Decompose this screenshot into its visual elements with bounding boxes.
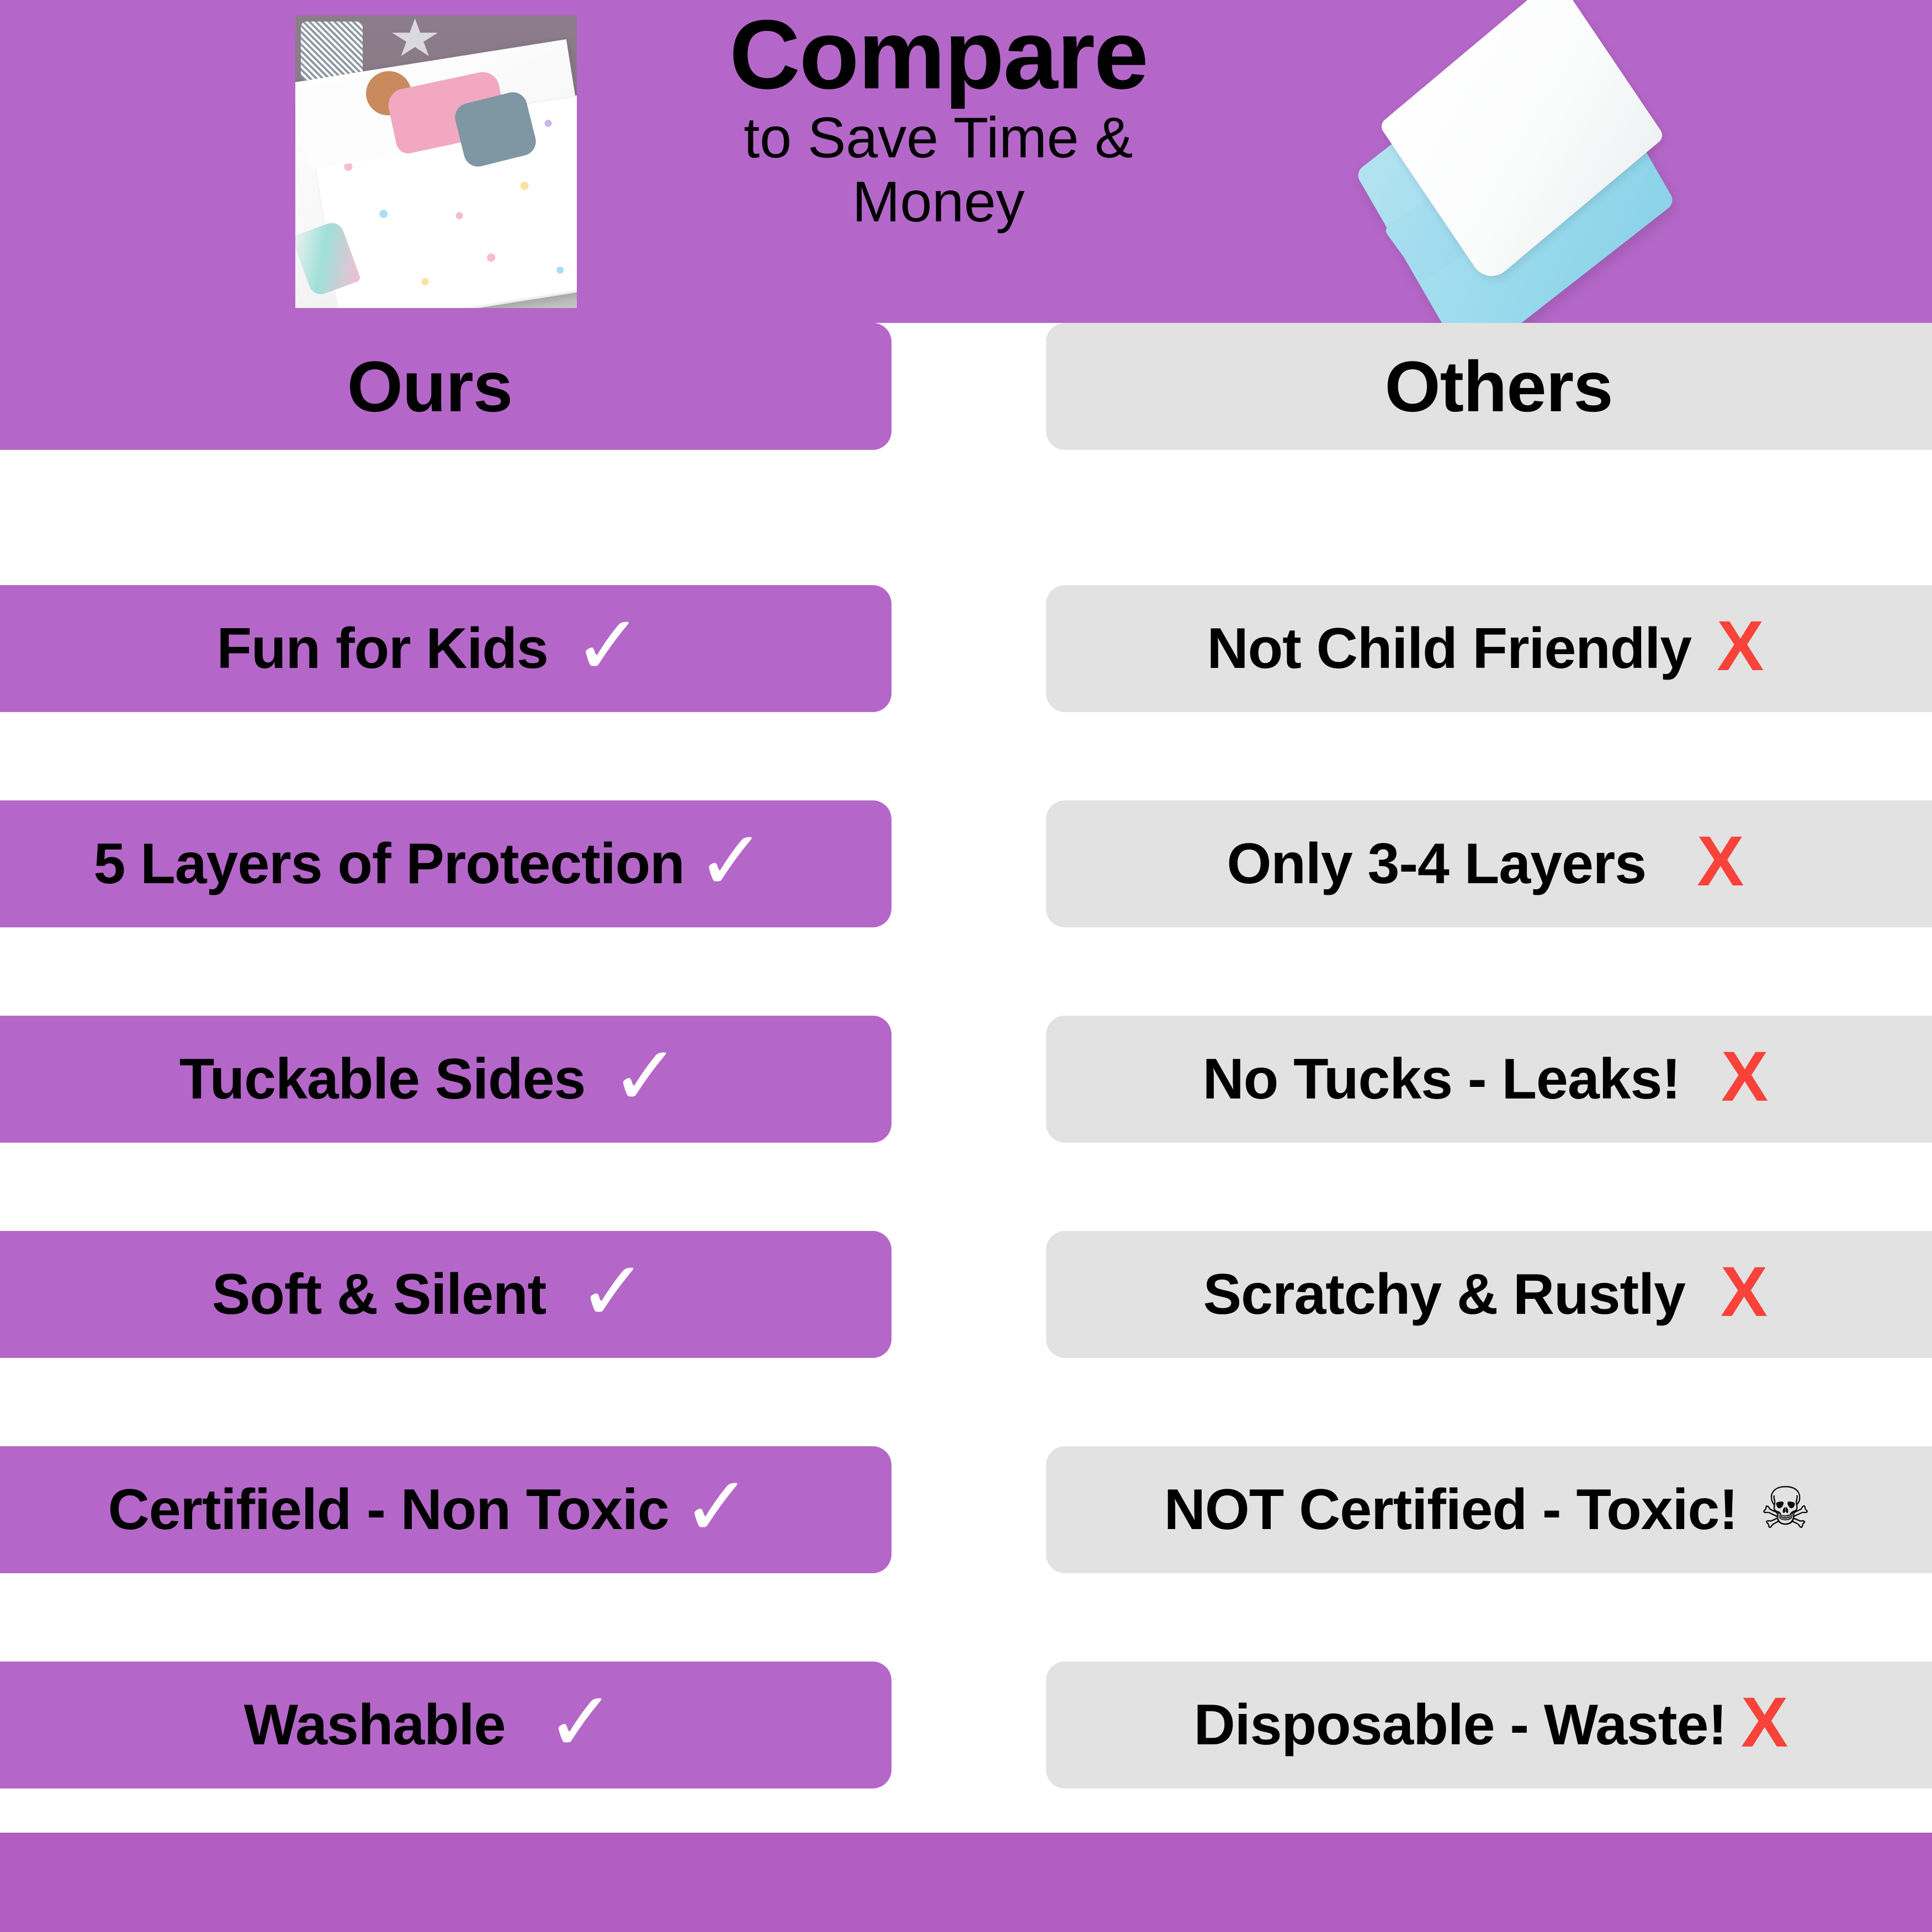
ours-feature-label: Fun for Kids [216,616,548,682]
page-title: Compare [624,6,1253,104]
lifestyle-photo-child-on-pad [295,15,577,308]
others-feature-label: Not Child Friendly [1207,616,1692,682]
others-cell: NOT Certified - Toxic! ☠ [1046,1446,1932,1573]
header-banner: Compare to Save Time & Money [0,0,1932,323]
cross-icon: X [1741,1687,1788,1758]
table-row: Washable ✓ Disposable - Waste! X [0,1662,1932,1788]
ours-feature-label: 5 Layers of Protection [94,831,684,897]
table-header-row: Ours Others [0,323,1932,450]
page-subtitle-line-2: Money [624,172,1253,232]
column-header-others-label: Others [1384,345,1612,428]
others-cell: Disposable - Waste! X [1046,1662,1932,1788]
column-header-ours-label: Ours [347,345,512,428]
check-icon: ✓ [697,819,766,902]
skull-and-crossbones-icon: ☠ [1760,1480,1811,1537]
product-photo-folded-pad [1355,6,1714,315]
table-row: Certifield - Non Toxic ✓ NOT Certified -… [0,1446,1932,1573]
others-cell: Only 3-4 Layers X [1046,800,1932,927]
ours-cell: Certifield - Non Toxic ✓ [0,1446,891,1573]
check-icon: ✓ [682,1465,752,1548]
table-row: Fun for Kids ✓ Not Child Friendly X [0,585,1932,712]
others-cell: No Tucks - Leaks! X [1046,1016,1932,1143]
check-icon: ✓ [546,1680,615,1763]
comparison-table: Ours Others Fun for Kids ✓ Not Child Fri… [0,323,1932,1833]
others-feature-label: No Tucks - Leaks! [1203,1047,1680,1112]
others-cell: Not Child Friendly X [1046,585,1932,712]
photo-cushion [301,22,363,80]
page-subtitle-line-1: to Save Time & [624,108,1253,168]
others-cell: Scratchy & Rustly X [1046,1231,1932,1358]
header-title-block: Compare to Save Time & Money [624,6,1253,232]
check-icon: ✓ [574,604,643,687]
table-row: Tuckable Sides ✓ No Tucks - Leaks! X [0,1016,1932,1143]
cross-icon: X [1697,826,1744,897]
ours-cell: 5 Layers of Protection ✓ [0,800,891,927]
check-icon: ✓ [578,1250,647,1333]
others-feature-label: Scratchy & Rustly [1203,1262,1685,1328]
check-icon: ✓ [611,1034,680,1117]
cross-icon: X [1721,1042,1768,1112]
cross-icon: X [1721,1257,1768,1328]
others-feature-label: NOT Certified - Toxic! [1164,1477,1738,1543]
column-header-ours: Ours [0,323,891,450]
ours-cell: Tuckable Sides ✓ [0,1016,891,1143]
others-feature-label: Only 3-4 Layers [1227,831,1647,897]
ours-cell: Soft & Silent ✓ [0,1231,891,1358]
column-header-others: Others [1046,323,1932,450]
cross-icon: X [1717,611,1764,682]
ours-feature-label: Washable [244,1692,506,1758]
ours-cell: Fun for Kids ✓ [0,585,891,712]
ours-feature-label: Soft & Silent [212,1262,546,1328]
table-row: 5 Layers of Protection ✓ Only 3-4 Layers… [0,800,1932,927]
ours-feature-label: Tuckable Sides [179,1047,585,1112]
footer-bar [0,1833,1932,1932]
ours-feature-label: Certifield - Non Toxic [108,1477,669,1543]
table-row: Soft & Silent ✓ Scratchy & Rustly X [0,1231,1932,1358]
ours-cell: Washable ✓ [0,1662,891,1788]
others-feature-label: Disposable - Waste! [1194,1692,1727,1758]
